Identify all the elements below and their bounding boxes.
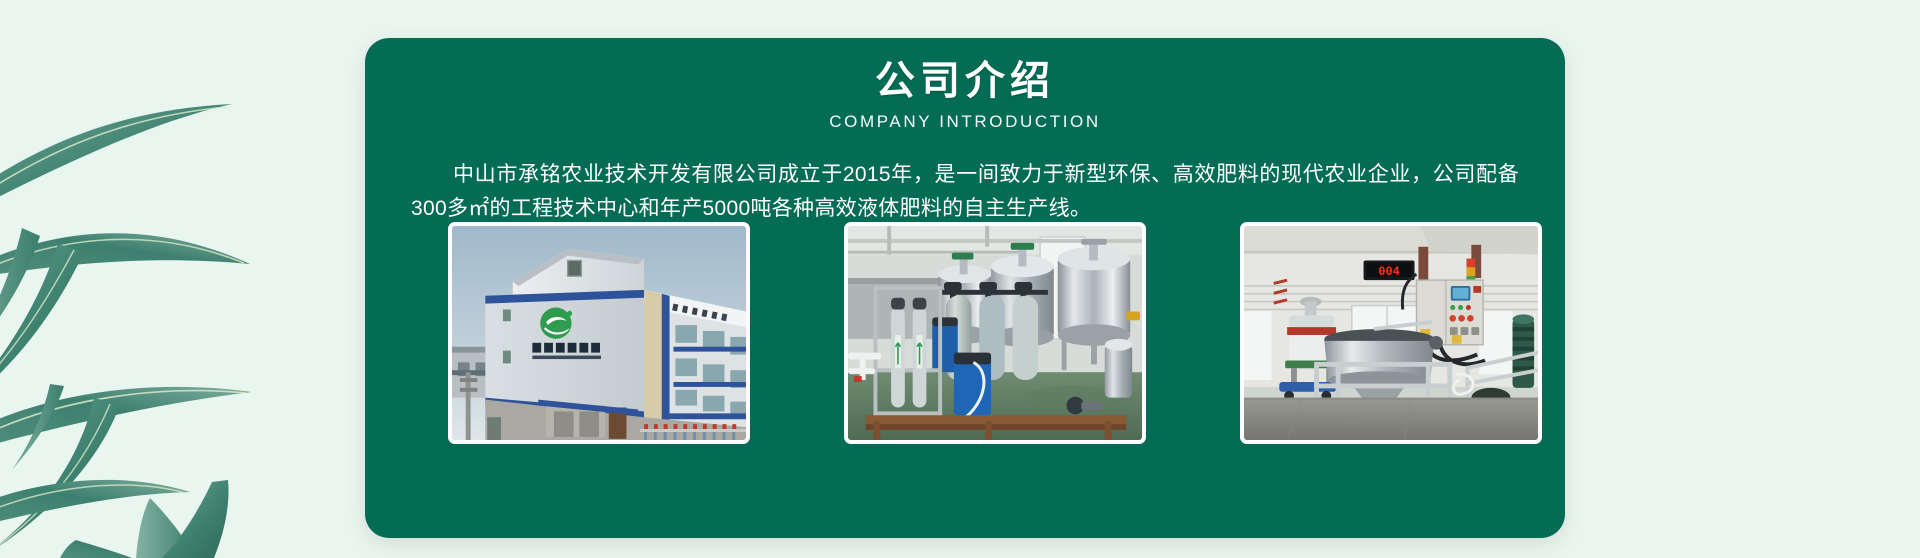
gallery-photo-production-tanks[interactable]: 液体肥料生产车间罐体与水处理设备 bbox=[844, 222, 1146, 444]
leaf-blade bbox=[0, 244, 84, 414]
led-display-sign: 004 bbox=[1364, 260, 1415, 280]
leaf-blade-group bbox=[0, 104, 252, 558]
leaf-blade bbox=[136, 498, 196, 558]
leaf-blade bbox=[0, 398, 120, 556]
photo-gallery: 公司办公大楼外景 bbox=[408, 206, 1522, 460]
vertical-pump bbox=[1513, 314, 1535, 388]
leaf-blade bbox=[0, 104, 232, 214]
leaf-blade bbox=[12, 384, 64, 470]
card-header: 公司介绍 COMPANY INTRODUCTION bbox=[365, 38, 1565, 132]
led-display-value: 004 bbox=[1378, 264, 1399, 278]
gallery-photo-company-building[interactable]: 公司办公大楼外景 bbox=[448, 222, 750, 444]
company-intro-card: 公司介绍 COMPANY INTRODUCTION 中山市承铭农业技术开发有限公… bbox=[365, 38, 1565, 538]
page-root: 公司介绍 COMPANY INTRODUCTION 中山市承铭农业技术开发有限公… bbox=[0, 0, 1920, 558]
leaf-blade bbox=[60, 540, 132, 558]
leaf-blade bbox=[0, 387, 252, 454]
page-title: 公司介绍 bbox=[365, 56, 1565, 106]
leaf-blade bbox=[0, 480, 190, 532]
leaf-blade bbox=[0, 228, 40, 372]
leaf-blade bbox=[162, 480, 228, 558]
leaf-decoration bbox=[0, 0, 260, 558]
gallery-photo-workshop[interactable]: 004 bbox=[1240, 222, 1542, 444]
leaf-blade bbox=[0, 233, 250, 278]
page-subtitle: COMPANY INTRODUCTION bbox=[365, 112, 1565, 132]
